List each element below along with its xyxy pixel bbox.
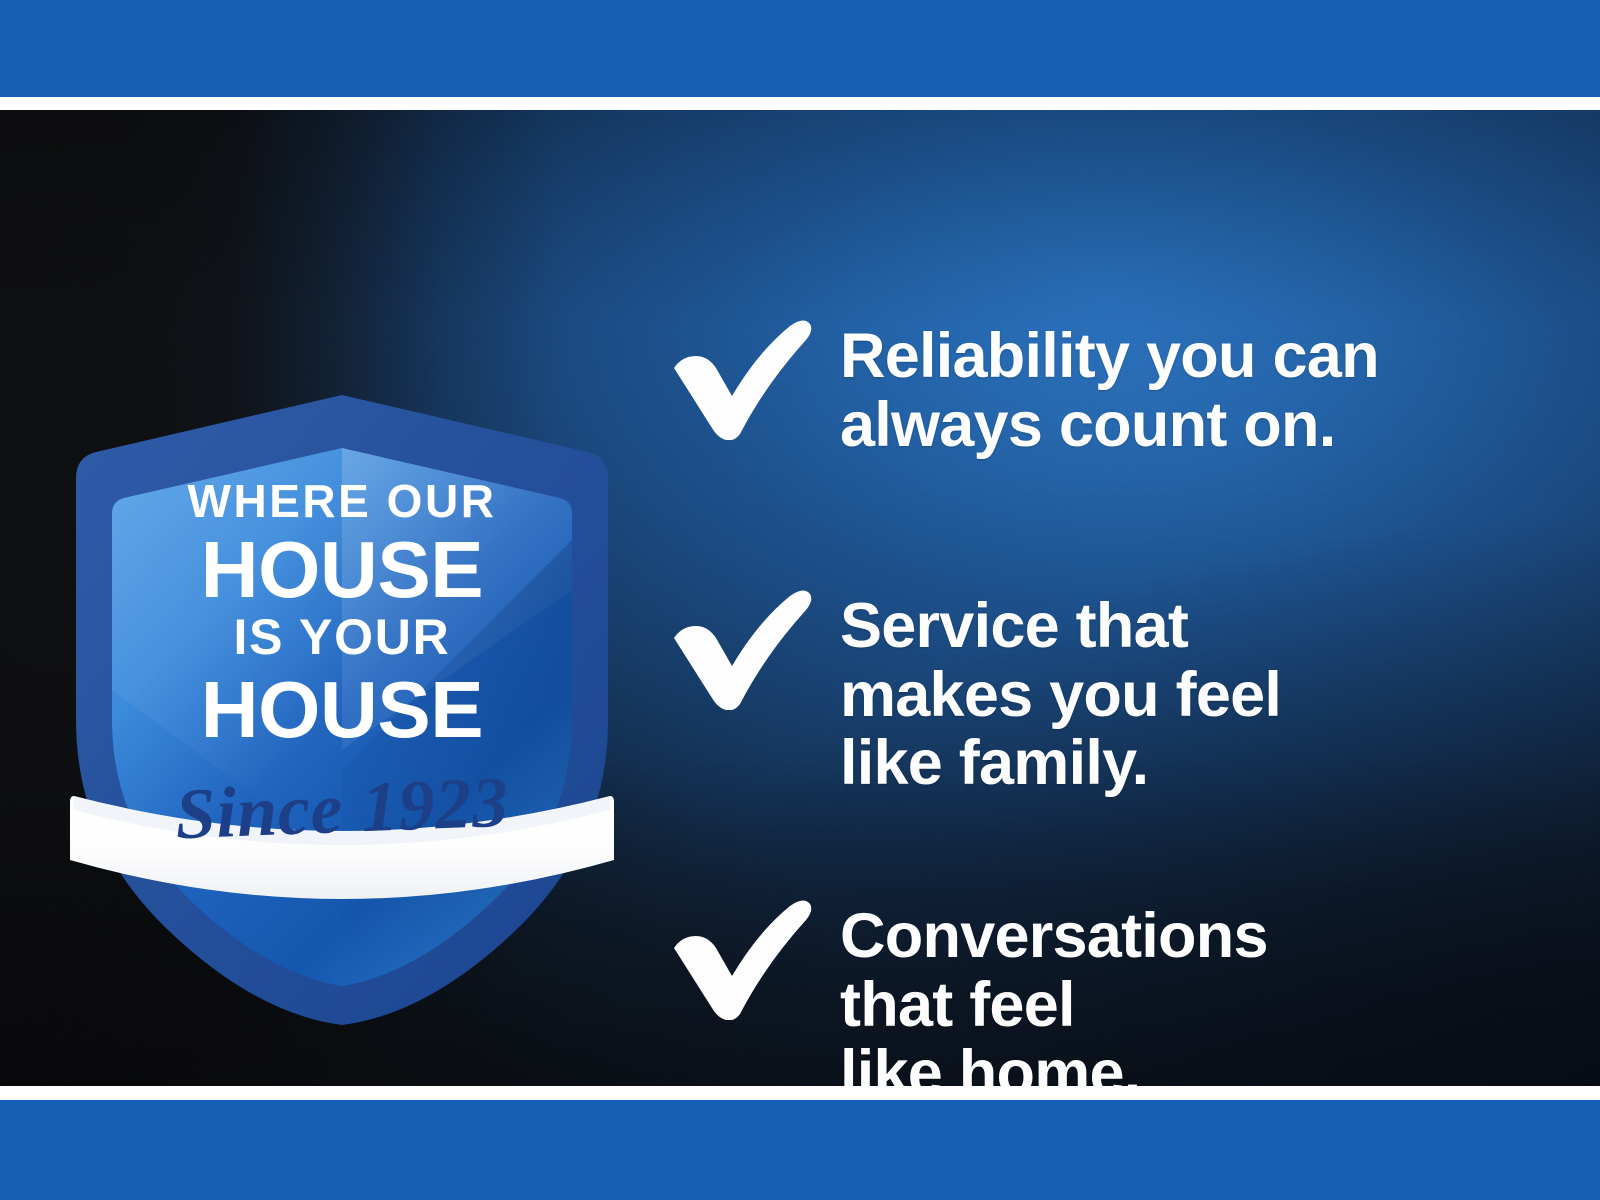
checkmark-icon (662, 316, 814, 440)
badge-line-4: HOUSE (68, 670, 616, 750)
bottom-border-bar (0, 1100, 1600, 1200)
list-item: Reliability you can always count on. (662, 316, 1379, 459)
main-dark-panel: WHERE OUR HOUSE IS YOUR HOUSE Since 1923… (0, 110, 1600, 1086)
top-border-bar (0, 0, 1600, 97)
badge-line-3: IS YOUR (68, 612, 616, 662)
promo-graphic: WHERE OUR HOUSE IS YOUR HOUSE Since 1923… (0, 0, 1600, 1200)
shield-badge-logo: WHERE OUR HOUSE IS YOUR HOUSE Since 1923 (68, 390, 616, 1030)
list-item-label: Service that makes you feel like family. (840, 592, 1281, 798)
badge-line-2: HOUSE (68, 530, 616, 610)
list-item: Service that makes you feel like family. (662, 586, 1281, 798)
checkmark-icon (662, 586, 814, 710)
badge-line-1: WHERE OUR (68, 478, 616, 524)
checkmark-icon (662, 896, 814, 1020)
list-item-label: Reliability you can always count on. (840, 322, 1379, 459)
list-item-label: Conversations that feel like home. (840, 902, 1268, 1086)
benefits-list: Reliability you can always count on. Ser… (662, 220, 1600, 1086)
list-item: Conversations that feel like home. (662, 896, 1268, 1086)
